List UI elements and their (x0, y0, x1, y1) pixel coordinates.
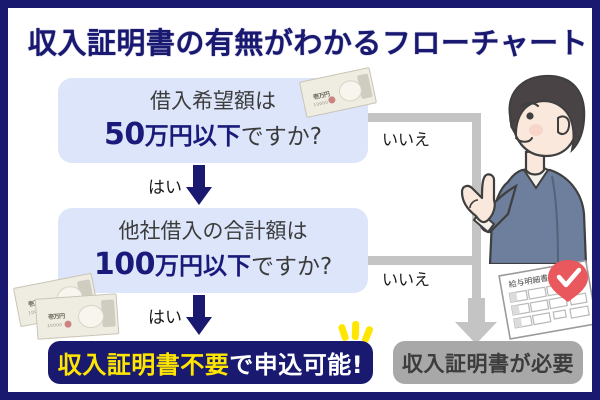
decision-box-2-line2: 100万円以下ですか? (94, 248, 332, 281)
decision-box-2-line1: 他社借入の合計額は (119, 220, 308, 243)
result-rest-text: で申込可能! (229, 345, 363, 380)
decision-box-2-unit: 万円以下 (155, 252, 251, 280)
person-pointing-illustration-icon (460, 64, 600, 264)
result-box-proof-required[interactable]: 収入証明書が必要 (393, 341, 583, 384)
branch-yes-1: はい (148, 165, 212, 205)
arrow-down-navy-icon (186, 295, 212, 335)
decision-box-2-amount: 100 (94, 247, 155, 282)
result-highlight-text: 収入証明書不要 (58, 345, 230, 380)
result-box-no-proof-needed[interactable]: 収入証明書不要で申込可能! (48, 341, 373, 384)
decision-box-2[interactable]: 他社借入の合計額は 100万円以下ですか? (58, 208, 368, 293)
decision-box-1-tail: ですか? (241, 124, 322, 150)
arrow-down-gray-icon (455, 298, 498, 343)
branch-label-yes-1: はい (148, 173, 182, 198)
result-required-text: 収入証明書が必要 (402, 348, 574, 378)
decision-box-1-unit: 万円以下 (145, 122, 241, 150)
branch-yes-2: はい (148, 295, 212, 335)
decision-box-1-line2: 50万円以下ですか? (104, 118, 322, 151)
decision-box-1-amount: 50 (104, 117, 145, 152)
arrow-down-navy-icon (186, 165, 212, 205)
branch-label-no-2: いいえ (382, 266, 430, 290)
decision-box-2-tail: ですか? (251, 254, 332, 280)
page-title: 収入証明書の有無がわかるフローチャート (8, 20, 600, 62)
branch-label-no-1: いいえ (382, 126, 430, 150)
payslip-document-illustration-icon: 給与明細書 (494, 258, 600, 343)
banknote-icon: 壱万円 10000 (35, 293, 120, 340)
banknote-label: 壱万円 (48, 311, 65, 321)
decision-box-1-line1: 借入希望額は (150, 90, 276, 113)
flowchart-canvas: 収入証明書の有無がわかるフローチャート いいえ いいえ 借入希望額は 50万円以… (0, 0, 600, 400)
branch-label-yes-2: はい (148, 303, 182, 328)
banknote-number: 10000 (47, 322, 63, 328)
